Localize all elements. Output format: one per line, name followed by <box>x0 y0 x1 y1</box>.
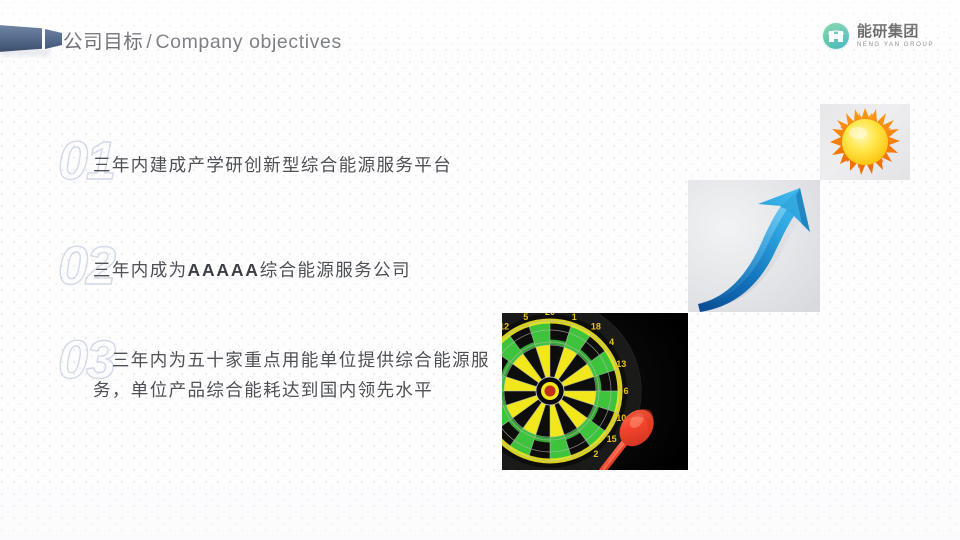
svg-text:15: 15 <box>607 434 617 444</box>
svg-text:18: 18 <box>591 321 601 331</box>
objective-text-2-emphasis: AAAAA <box>188 260 260 280</box>
svg-text:6: 6 <box>623 386 628 396</box>
objective-text-2-part-a: 三年内成为 <box>93 260 188 280</box>
svg-text:13: 13 <box>616 359 626 369</box>
growth-arrow-photo <box>688 180 820 312</box>
objective-text-1-part-a: 三年内建成产学研创新型综合能源服务平台 <box>93 155 452 175</box>
objective-text-3: 三年内为五十家重点用能单位提供综合能源服务，单位产品综合能耗达到国内领先水平 <box>93 345 513 405</box>
svg-text:1: 1 <box>572 313 577 322</box>
dartboard-photo: 20 1 18 4 13 6 10 15 2 5 12 9 14 <box>502 313 688 470</box>
objective-text-2: 三年内成为AAAAA综合能源服务公司 <box>93 255 613 285</box>
svg-text:5: 5 <box>523 313 528 322</box>
sun-photo <box>820 104 910 180</box>
objective-text-3-part-a: 三年内为五十家重点用能单位提供综合能源服务，单位产品综合能耗达到国内领先水平 <box>93 350 490 400</box>
objective-text-2-part-b: 综合能源服务公司 <box>260 260 411 280</box>
svg-text:12: 12 <box>502 321 509 331</box>
objective-text-1: 三年内建成产学研创新型综合能源服务平台 <box>93 150 613 180</box>
slide-canvas: 公司目标/Company objectives 能研集团 NENG YAN GR… <box>0 0 960 540</box>
svg-text:2: 2 <box>593 449 598 459</box>
svg-text:20: 20 <box>545 313 555 317</box>
svg-text:4: 4 <box>609 337 614 347</box>
